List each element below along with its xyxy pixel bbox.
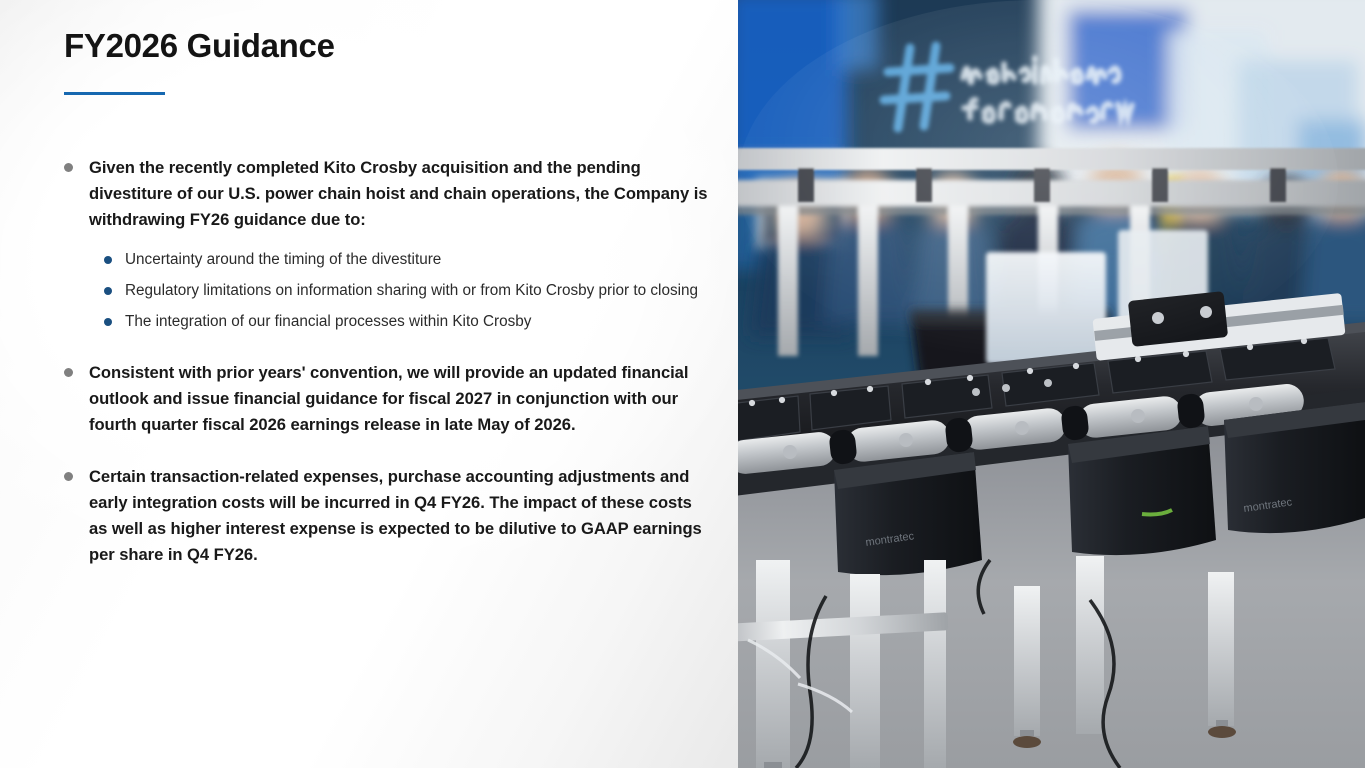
bullet-marker-icon bbox=[64, 472, 73, 481]
sub-bullet-text: Regulatory limitations on information sh… bbox=[125, 280, 709, 303]
bullet-item-level2: The integration of our financial process… bbox=[104, 311, 709, 334]
content-panel: FY2026 Guidance Given the recently compl… bbox=[0, 0, 738, 768]
sub-bullet-text: Uncertainty around the timing of the div… bbox=[125, 249, 709, 272]
bullet-item-level1: Given the recently completed Kito Crosby… bbox=[64, 155, 709, 233]
tradeshow-conveyor-photo: montratec montratec bbox=[738, 0, 1365, 768]
page-title: FY2026 Guidance bbox=[64, 28, 684, 65]
bullet-item-level1: Consistent with prior years' convention,… bbox=[64, 360, 709, 438]
sub-bullet-marker-icon bbox=[104, 256, 112, 264]
bullet-marker-icon bbox=[64, 368, 73, 377]
title-block: FY2026 Guidance bbox=[64, 28, 684, 95]
sub-bullet-text: The integration of our financial process… bbox=[125, 311, 709, 334]
bullet-text: Certain transaction-related expenses, pu… bbox=[89, 464, 709, 568]
sub-bullet-marker-icon bbox=[104, 287, 112, 295]
bullet-item-level2: Regulatory limitations on information sh… bbox=[104, 280, 709, 303]
bullet-marker-icon bbox=[64, 163, 73, 172]
bullet-item-level2: Uncertainty around the timing of the div… bbox=[104, 249, 709, 272]
sub-bullet-list: Uncertainty around the timing of the div… bbox=[64, 249, 709, 334]
bullet-text: Given the recently completed Kito Crosby… bbox=[89, 155, 709, 233]
bullet-item-level1: Certain transaction-related expenses, pu… bbox=[64, 464, 709, 568]
sub-bullet-marker-icon bbox=[104, 318, 112, 326]
bullet-text: Consistent with prior years' convention,… bbox=[89, 360, 709, 438]
bullet-list: Given the recently completed Kito Crosby… bbox=[64, 155, 709, 584]
title-accent-bar bbox=[64, 92, 165, 95]
presentation-slide: FY2026 Guidance Given the recently compl… bbox=[0, 0, 1365, 768]
slide-photo: montratec montratec bbox=[738, 0, 1365, 768]
